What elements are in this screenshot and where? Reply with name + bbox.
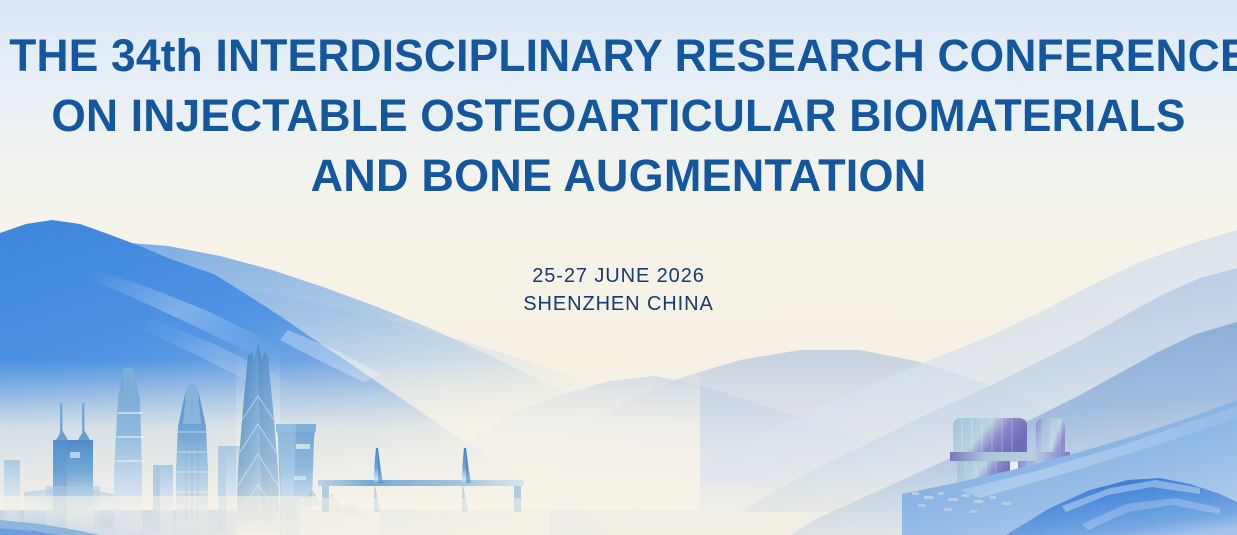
event-details: 25-27 JUNE 2026 SHENZHEN CHINA <box>0 262 1237 318</box>
page-title: THE 34th INTERDISCIPLINARY RESEARCH CONF… <box>0 26 1237 206</box>
china-resources-tower <box>176 384 208 534</box>
cylindrical-tower <box>276 424 316 534</box>
low-hills <box>300 490 362 514</box>
ping-an-finance-center <box>236 344 280 535</box>
title-line-1: THE 34th INTERDISCIPLINARY RESEARCH CONF… <box>9 26 1227 86</box>
conference-banner: THE 34th INTERDISCIPLINARY RESEARCH CONF… <box>0 0 1237 535</box>
event-location: SHENZHEN CHINA <box>0 290 1237 318</box>
mid-squat-tower <box>218 446 240 532</box>
title-line-3: AND BONE AUGMENTATION <box>0 146 1237 206</box>
cc-drum-left <box>953 418 1027 452</box>
cc-drum-right <box>1036 418 1065 452</box>
left-low-block <box>4 460 120 522</box>
twin-spire-tower <box>46 403 100 530</box>
kk100-tower <box>114 367 144 532</box>
cc-lower-left <box>957 461 1010 492</box>
small-block-tower <box>153 465 173 533</box>
event-dates: 25-27 JUNE 2026 <box>0 262 1237 290</box>
title-line-2: ON INJECTABLE OSTEOARTICULAR BIOMATERIAL… <box>9 86 1227 146</box>
cc-lower-right <box>1018 461 1064 492</box>
